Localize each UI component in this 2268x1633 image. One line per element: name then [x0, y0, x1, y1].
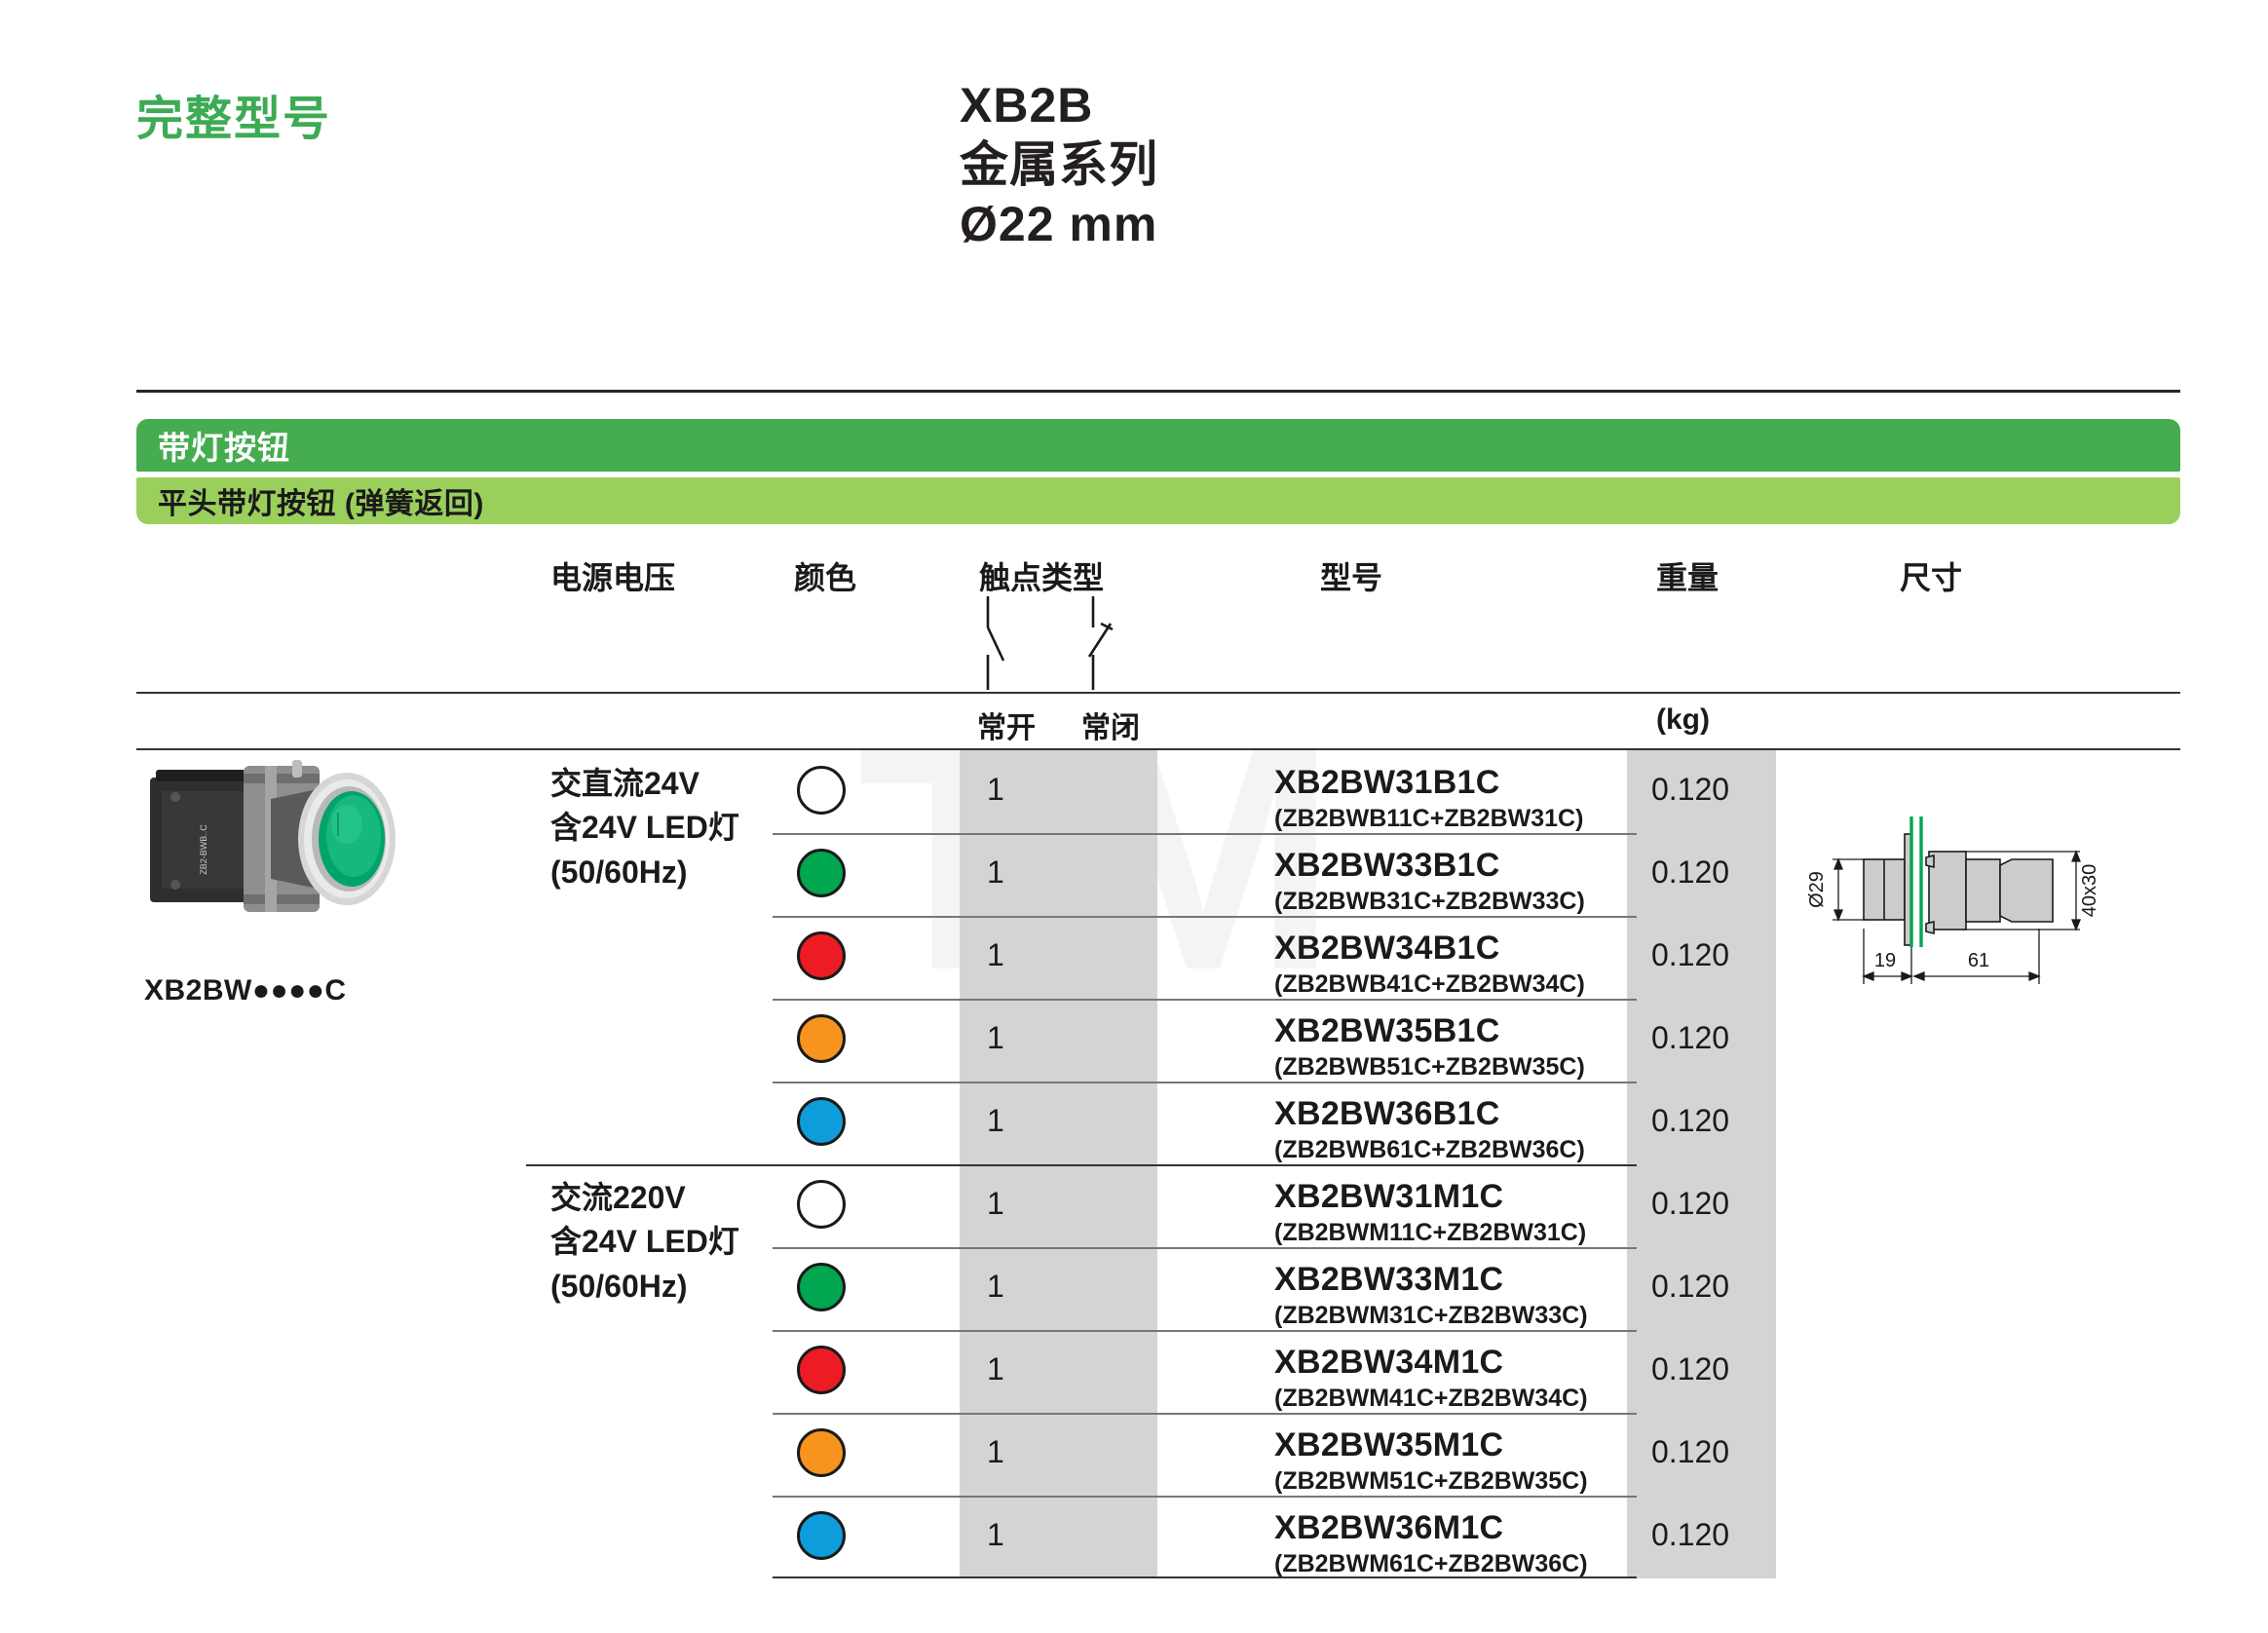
weight-value: 0.120 — [1651, 1269, 1729, 1305]
row-divider — [773, 1496, 1637, 1498]
svg-text:ZB2-BWB..C: ZB2-BWB..C — [199, 824, 208, 875]
row-divider — [526, 1164, 1637, 1166]
normally-open-count: 1 — [987, 1434, 1004, 1470]
subheader-weight-unit: (kg) — [1656, 703, 1710, 737]
voltage-cell: 交直流24V含24V LED灯(50/60Hz) — [550, 762, 739, 894]
dim-label-diameter: Ø29 — [1806, 871, 1828, 908]
color-dot-orange — [797, 1014, 846, 1063]
color-indicator — [797, 1180, 846, 1229]
color-dot-red — [797, 931, 846, 980]
color-dot-white — [797, 766, 846, 815]
model-composition: (ZB2BWB11C+ZB2BW31C) — [1274, 805, 1583, 833]
model-composition: (ZB2BWB41C+ZB2BW34C) — [1274, 970, 1585, 999]
model-number: XB2BW35B1C — [1274, 1012, 1585, 1050]
color-indicator — [797, 1263, 846, 1311]
product-photo: ZB2-BWB..C — [146, 741, 438, 935]
color-indicator — [797, 766, 846, 815]
dim-label-40x30: 40x30 — [2079, 864, 2100, 918]
weight-value: 0.120 — [1651, 1103, 1729, 1139]
color-dot-orange — [797, 1428, 846, 1477]
weight-value: 0.120 — [1651, 854, 1729, 891]
voltage-line: (50/60Hz) — [550, 851, 739, 894]
model-cell: XB2BW34M1C(ZB2BWM41C+ZB2BW34C) — [1274, 1344, 1588, 1413]
row-divider — [773, 833, 1637, 835]
model-number: XB2BW36B1C — [1274, 1095, 1585, 1133]
weight-value: 0.120 — [1651, 1351, 1729, 1387]
row-divider — [773, 1082, 1637, 1083]
column-header-color: 颜色 — [794, 553, 856, 598]
model-composition: (ZB2BWM51C+ZB2BW35C) — [1274, 1467, 1588, 1496]
weight-value: 0.120 — [1651, 1434, 1729, 1470]
color-indicator — [797, 1097, 846, 1146]
weight-value: 0.120 — [1651, 1020, 1729, 1056]
color-dot-blue — [797, 1097, 846, 1146]
subheader-normally-closed: 常闭 — [1081, 703, 1140, 746]
model-composition: (ZB2BWB61C+ZB2BW36C) — [1274, 1136, 1585, 1164]
color-dot-white — [797, 1180, 846, 1229]
model-number: XB2BW33B1C — [1274, 847, 1585, 885]
model-cell: XB2BW31B1C(ZB2BWB11C+ZB2BW31C) — [1274, 764, 1583, 833]
color-indicator — [797, 1014, 846, 1063]
model-number: XB2BW31M1C — [1274, 1178, 1586, 1216]
dim-label-19: 19 — [1874, 950, 1896, 971]
normally-open-count: 1 — [987, 1020, 1004, 1056]
model-number: XB2BW35M1C — [1274, 1426, 1588, 1464]
normally-closed-contact-icon — [1079, 596, 1122, 695]
model-composition: (ZB2BWM31C+ZB2BW33C) — [1274, 1302, 1588, 1330]
datasheet-page: 完整型号 XB2B 金属系列 Ø22 mm 带灯按钮 平头带灯按钮 (弹簧返回)… — [0, 0, 2268, 1633]
column-header-weight: 重量 — [1656, 553, 1719, 598]
row-divider — [773, 999, 1637, 1001]
model-cell: XB2BW34B1C(ZB2BWB41C+ZB2BW34C) — [1274, 930, 1585, 999]
color-indicator — [797, 849, 846, 897]
row-divider — [773, 1247, 1637, 1249]
specification-table: 电源电压 颜色 触点类型 型号 重量 尺寸 常开 常闭 (kg) — [0, 0, 2268, 1633]
color-indicator — [797, 1428, 846, 1477]
model-cell: XB2BW36M1C(ZB2BWM61C+ZB2BW36C) — [1274, 1509, 1588, 1578]
voltage-line: (50/60Hz) — [550, 1265, 739, 1309]
color-dot-green — [797, 1263, 846, 1311]
header-rule — [136, 692, 2180, 694]
model-cell: XB2BW33B1C(ZB2BWB31C+ZB2BW33C) — [1274, 847, 1585, 916]
model-number: XB2BW34M1C — [1274, 1344, 1588, 1382]
voltage-line: 交直流24V — [550, 762, 739, 806]
voltage-line: 交流220V — [550, 1176, 739, 1220]
model-number: XB2BW31B1C — [1274, 764, 1583, 802]
column-header-model: 型号 — [1320, 553, 1382, 598]
model-number: XB2BW34B1C — [1274, 930, 1585, 968]
weight-value: 0.120 — [1651, 1517, 1729, 1553]
color-indicator — [797, 1346, 846, 1394]
model-cell: XB2BW31M1C(ZB2BWM11C+ZB2BW31C) — [1274, 1178, 1586, 1247]
normally-open-contact-icon — [974, 596, 1013, 695]
model-number: XB2BW33M1C — [1274, 1261, 1588, 1299]
subheader-normally-open: 常开 — [977, 703, 1036, 746]
normally-open-count: 1 — [987, 772, 1004, 808]
dimension-drawing: Ø29 40x30 19 — [1797, 799, 2148, 1028]
normally-open-count: 1 — [987, 1517, 1004, 1553]
voltage-cell: 交流220V含24V LED灯(50/60Hz) — [550, 1176, 739, 1309]
data-top-rule — [136, 748, 2180, 750]
model-cell: XB2BW36B1C(ZB2BWB61C+ZB2BW36C) — [1274, 1095, 1585, 1164]
row-divider — [773, 1330, 1637, 1332]
normally-open-count: 1 — [987, 1351, 1004, 1387]
row-divider — [773, 1413, 1637, 1415]
column-header-dimension: 尺寸 — [1900, 553, 1962, 598]
weight-value: 0.120 — [1651, 1186, 1729, 1222]
model-composition: (ZB2BWM11C+ZB2BW31C) — [1274, 1219, 1586, 1247]
normally-open-count: 1 — [987, 937, 1004, 973]
color-dot-red — [797, 1346, 846, 1394]
color-dot-blue — [797, 1511, 846, 1560]
model-composition: (ZB2BWB51C+ZB2BW35C) — [1274, 1053, 1585, 1082]
voltage-line: 含24V LED灯 — [550, 1220, 739, 1264]
model-composition: (ZB2BWM41C+ZB2BW34C) — [1274, 1385, 1588, 1413]
model-cell: XB2BW35M1C(ZB2BWM51C+ZB2BW35C) — [1274, 1426, 1588, 1496]
model-cell: XB2BW35B1C(ZB2BWB51C+ZB2BW35C) — [1274, 1012, 1585, 1082]
normally-open-count: 1 — [987, 1186, 1004, 1222]
normally-open-count: 1 — [987, 854, 1004, 891]
model-cell: XB2BW33M1C(ZB2BWM31C+ZB2BW33C) — [1274, 1261, 1588, 1330]
color-dot-green — [797, 849, 846, 897]
row-divider — [773, 916, 1637, 918]
model-composition: (ZB2BWM61C+ZB2BW36C) — [1274, 1550, 1588, 1578]
color-indicator — [797, 1511, 846, 1560]
normally-open-count: 1 — [987, 1269, 1004, 1305]
voltage-line: 含24V LED灯 — [550, 806, 739, 850]
dim-label-61: 61 — [1968, 950, 1989, 971]
color-indicator — [797, 931, 846, 980]
column-header-voltage: 电源电压 — [550, 553, 675, 598]
weight-value: 0.120 — [1651, 772, 1729, 808]
model-composition: (ZB2BWB31C+ZB2BW33C) — [1274, 888, 1585, 916]
weight-value: 0.120 — [1651, 937, 1729, 973]
column-header-contact-type: 触点类型 — [979, 553, 1104, 598]
product-caption: XB2BW●●●●C — [144, 974, 347, 1007]
normally-open-count: 1 — [987, 1103, 1004, 1139]
model-number: XB2BW36M1C — [1274, 1509, 1588, 1547]
